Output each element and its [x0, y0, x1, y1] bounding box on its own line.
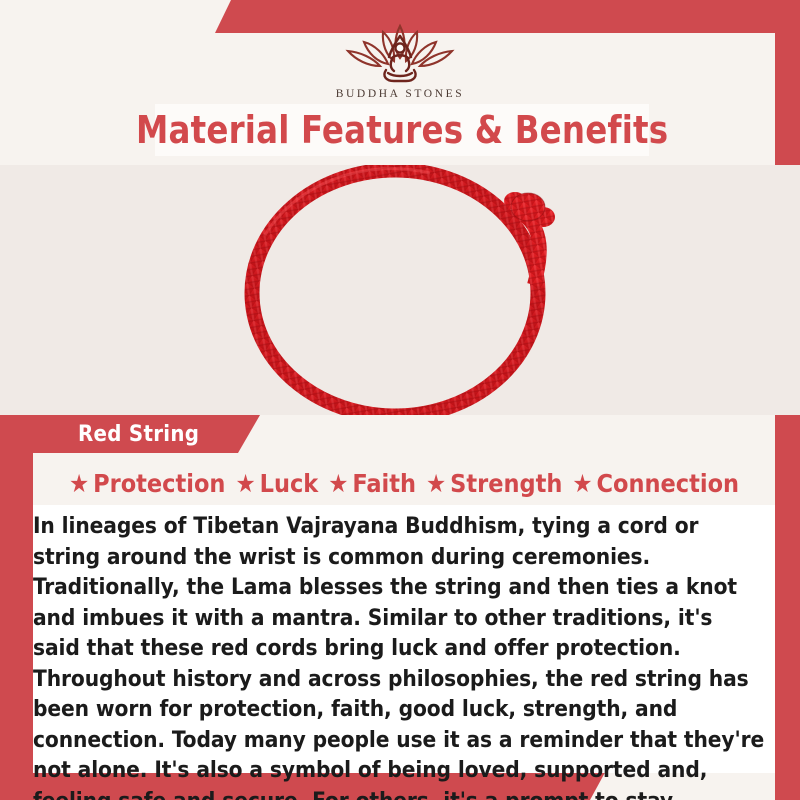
benefit-item-protection: ★ Protection [65, 469, 229, 498]
benefit-item-strength: ★ Strength [422, 469, 566, 498]
star-icon: ★ [572, 471, 592, 496]
red-string-bracelet-image [0, 165, 800, 415]
page-title: Material Features & Benefits [155, 104, 649, 156]
decorative-band-right [775, 33, 800, 800]
benefit-label: Faith [352, 469, 416, 498]
star-icon: ★ [426, 471, 446, 496]
infographic-page: BUDDHA STONES Material Features & Benefi… [0, 0, 800, 800]
star-icon: ★ [235, 471, 255, 496]
benefits-list: ★ Protection ★ Luck ★ Faith ★ Strength ★… [33, 462, 775, 504]
brand-name: BUDDHA STONES [336, 88, 464, 100]
benefit-item-connection: ★ Connection [568, 469, 743, 498]
lotus-meditation-icon [326, 18, 474, 84]
star-icon: ★ [328, 471, 348, 496]
product-image-area [0, 165, 800, 415]
description-text: In lineages of Tibetan Vajrayana Buddhis… [33, 511, 765, 800]
benefit-item-faith: ★ Faith [324, 469, 420, 498]
description-block: In lineages of Tibetan Vajrayana Buddhis… [33, 505, 775, 773]
section-label-text: Red String [78, 422, 199, 447]
section-label-ribbon: Red String [20, 415, 260, 453]
brand-logo: BUDDHA STONES [0, 18, 800, 100]
benefit-label: Luck [260, 469, 319, 498]
benefit-item-luck: ★ Luck [231, 469, 322, 498]
benefit-label: Protection [93, 469, 225, 498]
star-icon: ★ [69, 471, 89, 496]
benefit-label: Connection [597, 469, 740, 498]
page-title-text: Material Features & Benefits [136, 108, 668, 152]
benefit-label: Strength [450, 469, 562, 498]
